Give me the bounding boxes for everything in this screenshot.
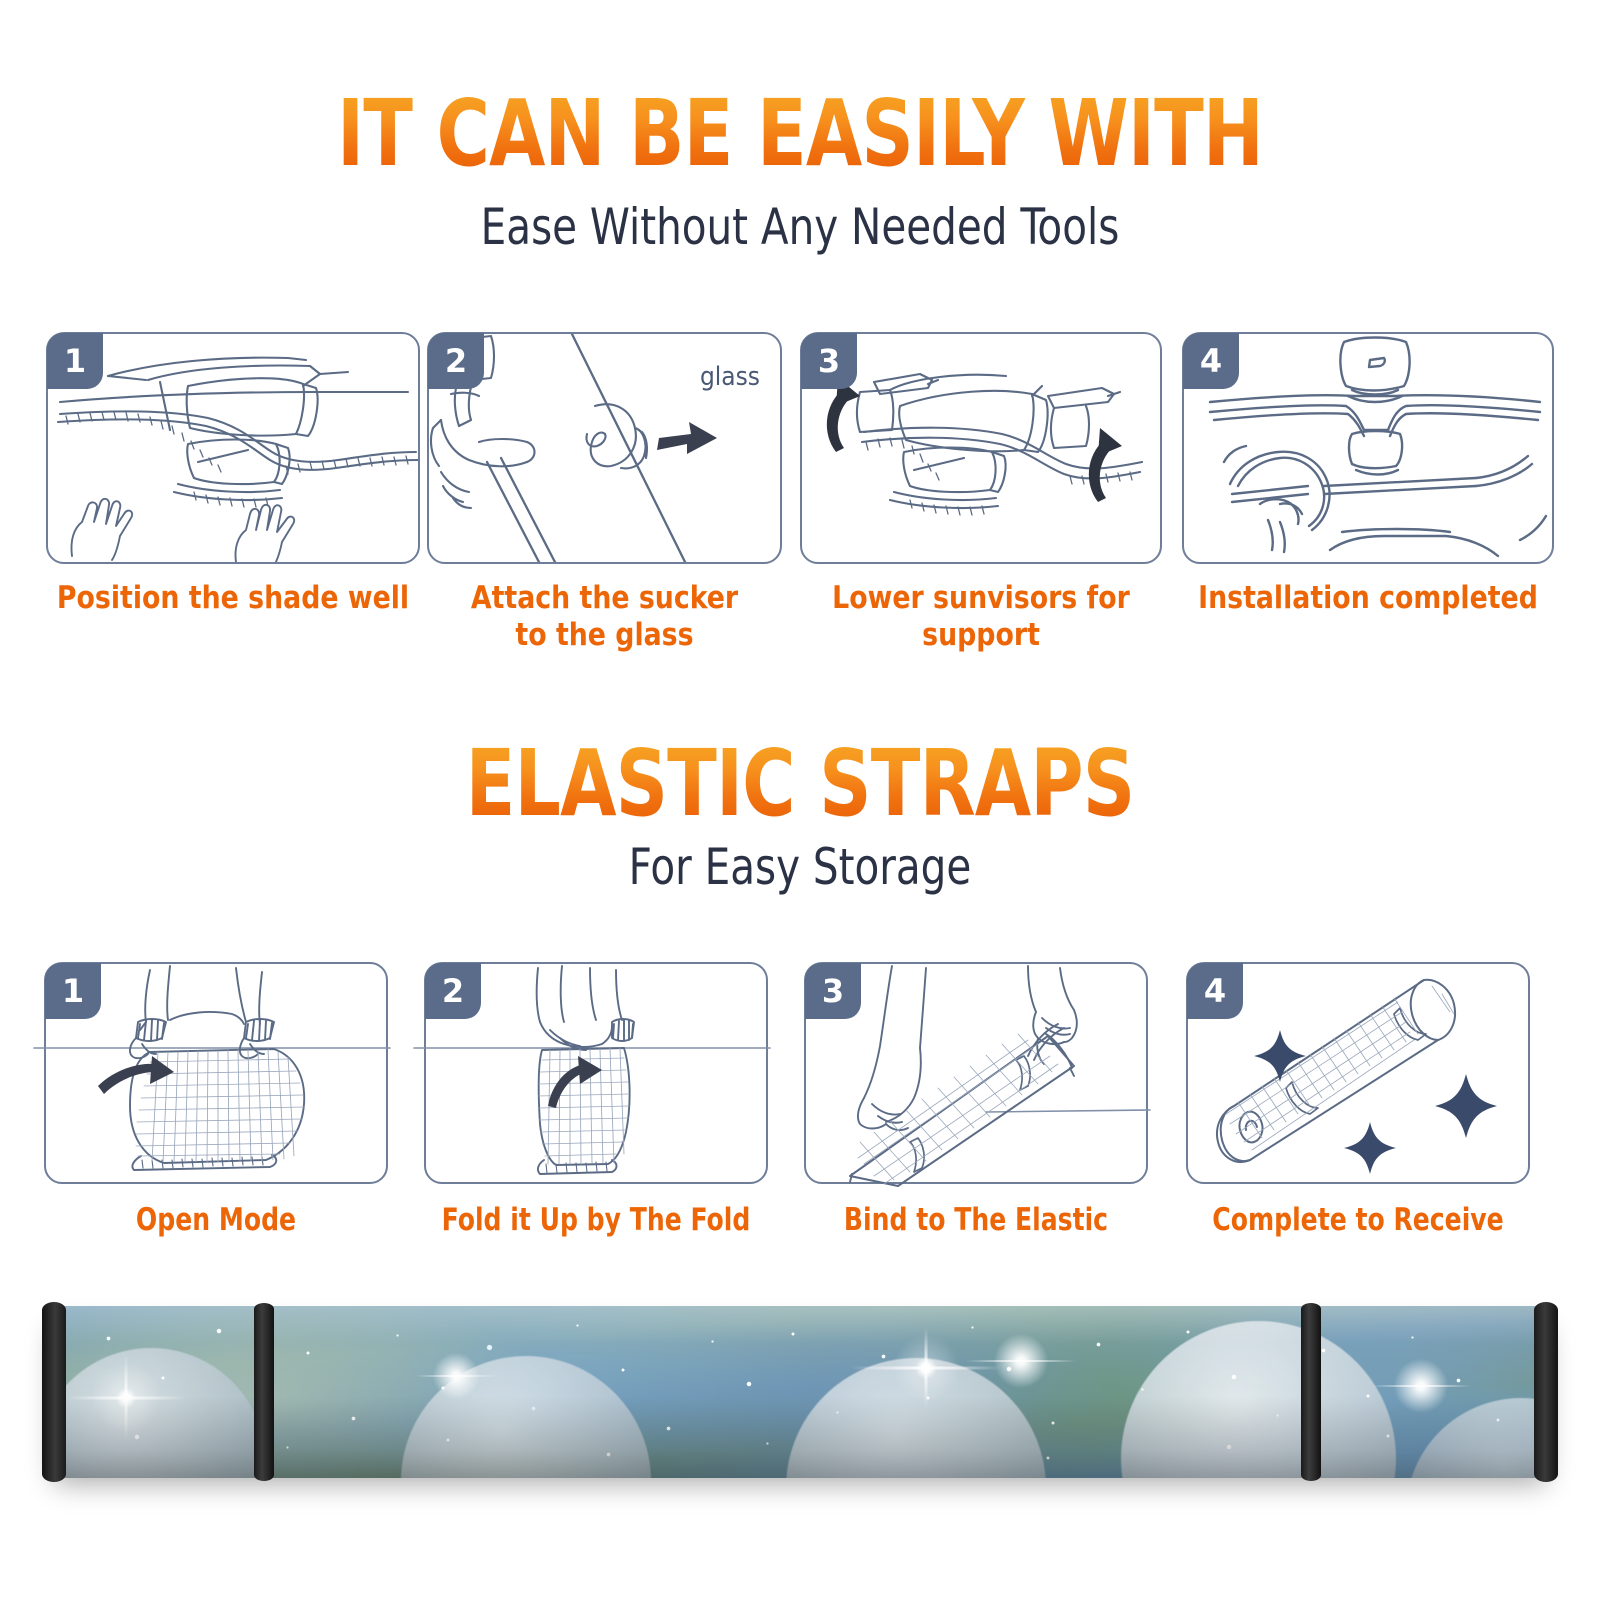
step-illustration-1 [48, 334, 418, 562]
section-1-subheading: Ease Without Any Needed Tools [80, 198, 1520, 256]
step-illustration-frame: 2 [427, 332, 782, 564]
product-infographic-page: { "section1": { "heading": "IT CAN BE EA… [0, 0, 1600, 1600]
step-number-badge: 1 [45, 963, 101, 1019]
storage-card-2: 2 [424, 962, 768, 1239]
storage-illustration-frame: 3 [804, 962, 1148, 1184]
step-card-2: 2 [427, 332, 782, 653]
storage-caption: Fold it Up by The Fold [441, 1202, 751, 1239]
step-card-4: 4 [1182, 332, 1554, 617]
step-caption-line1: Attach the sucker [434, 580, 775, 617]
storage-card-4: 4 [1186, 962, 1530, 1239]
elastic-strap [254, 1303, 274, 1481]
step-number-badge: 3 [805, 963, 861, 1019]
section-2-heading: ELASTIC STRAPS [96, 738, 1504, 830]
step-caption-line2: support [807, 617, 1155, 654]
step-caption: Installation completed [1189, 580, 1546, 617]
storage-card-3: 3 [804, 962, 1148, 1239]
storage-steps-row: 1 [0, 962, 1600, 1192]
section-2-subheader: For Easy Storage [0, 838, 1600, 896]
step-illustration-frame: 3 [800, 332, 1162, 564]
step-illustration-frame: 4 [1182, 332, 1554, 564]
installation-steps-row: 1 [0, 332, 1600, 572]
step-card-3: 3 [800, 332, 1162, 653]
section-1-heading: IT CAN BE EASILY WITH [96, 88, 1504, 180]
storage-caption: Complete to Receive [1203, 1202, 1513, 1239]
section-2-header: ELASTIC STRAPS [0, 738, 1600, 830]
step-number-badge: 4 [1187, 963, 1243, 1019]
section-1-subheader: Ease Without Any Needed Tools [0, 198, 1600, 256]
step-number-badge: 2 [428, 333, 484, 389]
section-1-header: IT CAN BE EASILY WITH [0, 88, 1600, 180]
step-caption-line2: to the glass [434, 617, 775, 654]
glass-annotation-label: glass [700, 362, 760, 392]
step-number-badge: 4 [1183, 333, 1239, 389]
section-2-subheading: For Easy Storage [80, 838, 1520, 896]
storage-caption: Open Mode [61, 1202, 371, 1239]
rolled-galaxy-sunshade-photo [46, 1306, 1554, 1478]
step-number-badge: 3 [801, 333, 857, 389]
roll-right-end-cap [1534, 1302, 1558, 1482]
step-number-badge: 2 [425, 963, 481, 1019]
step-illustration-frame: 1 [46, 332, 420, 564]
storage-illustration-frame: 1 [44, 962, 388, 1184]
storage-caption: Bind to The Elastic [821, 1202, 1131, 1239]
elastic-strap [1301, 1303, 1321, 1481]
storage-card-1: 1 [44, 962, 388, 1239]
step-caption-line1: Lower sunvisors for [807, 580, 1155, 617]
storage-illustration-frame: 4 [1186, 962, 1530, 1184]
step-caption: Position the shade well [53, 580, 412, 617]
step-illustration-4 [1184, 334, 1552, 562]
step-number-badge: 1 [47, 333, 103, 389]
step-card-1: 1 [46, 332, 420, 617]
storage-illustration-frame: 2 [424, 962, 768, 1184]
roll-left-end-cap [42, 1302, 66, 1482]
